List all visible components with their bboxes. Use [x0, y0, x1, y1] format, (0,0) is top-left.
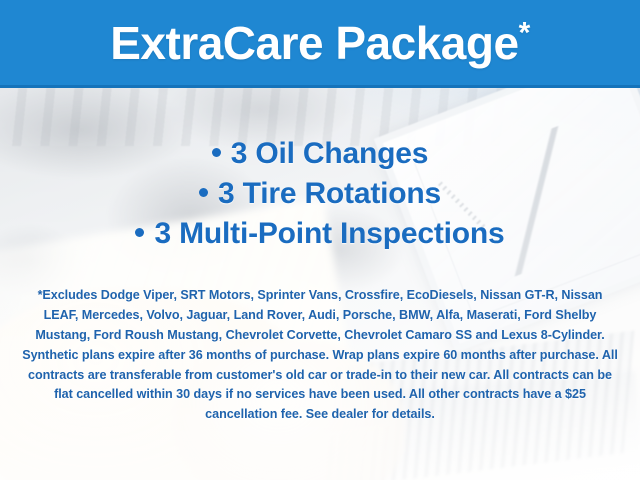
page-title: ExtraCare Package* — [110, 20, 530, 66]
bullet-dot-icon — [135, 228, 144, 237]
disclaimer-text: *Excludes Dodge Viper, SRT Motors, Sprin… — [22, 286, 618, 425]
page-title-asterisk: * — [519, 16, 530, 49]
bullet-dot-icon — [212, 148, 221, 157]
list-item: 3 Tire Rotations — [0, 174, 640, 214]
header-band: ExtraCare Package* — [0, 0, 640, 88]
bullet-dot-icon — [199, 188, 208, 197]
benefit-label: 3 Oil Changes — [231, 137, 428, 170]
benefit-label: 3 Tire Rotations — [218, 177, 441, 210]
list-item: 3 Multi-Point Inspections — [0, 214, 640, 254]
benefits-list: 3 Oil Changes 3 Tire Rotations 3 Multi-P… — [0, 134, 640, 254]
extracare-package-ad: ExtraCare Package* 3 Oil Changes 3 Tire … — [0, 0, 640, 480]
benefit-label: 3 Multi-Point Inspections — [154, 217, 504, 250]
list-item: 3 Oil Changes — [0, 134, 640, 174]
page-title-text: ExtraCare Package — [110, 17, 518, 69]
